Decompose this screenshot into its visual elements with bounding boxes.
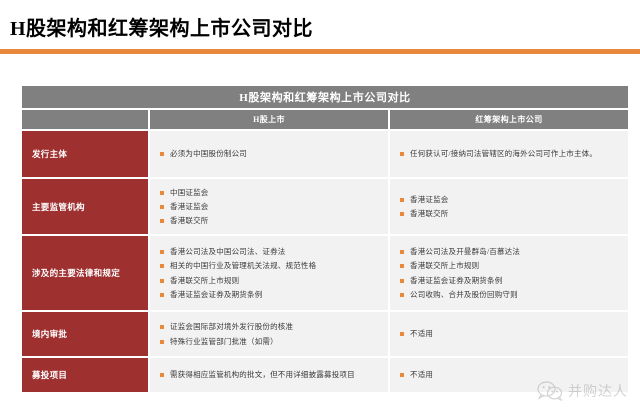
cell-redchip: 任何获认可/接纳司法管辖区的海外公司可作上市主体。 xyxy=(390,131,628,177)
bullet-icon xyxy=(400,264,404,268)
row-label: 募投项目 xyxy=(22,358,150,392)
bullet-label: 香港证监会 xyxy=(410,194,622,205)
table-row: 募投项目 需获得相应监管机构的批文，但不用详细披露募投项目 不适用 xyxy=(22,356,628,392)
bullet-label: 不适用 xyxy=(410,369,622,380)
bullet-label: 香港联交所 xyxy=(410,208,622,219)
bullet-label: 必须为中国股份制公司 xyxy=(170,148,382,159)
bullet-icon xyxy=(160,325,164,329)
bullet-icon xyxy=(400,373,404,377)
bullet-item: 香港公司法及中国公司法、证券法 xyxy=(160,245,382,259)
bullet-item: 任何获认可/接纳司法管辖区的海外公司可作上市主体。 xyxy=(400,147,622,161)
cell-redchip: 香港公司法及开曼群岛/百慕达法 香港联交所上市规则 香港证监会证券及期货条例 公… xyxy=(390,236,628,310)
bullet-label: 香港证监会 xyxy=(170,201,382,212)
bullet-item: 香港公司法及开曼群岛/百慕达法 xyxy=(400,245,622,259)
cell-redchip: 香港证监会 香港联交所 xyxy=(390,179,628,234)
slide-title-area: H股架构和红筹架构上市公司对比 xyxy=(0,0,640,52)
cell-hshare: 证监会国际部对境外发行股份的核准 特殊行业监管部门批准（如需） xyxy=(150,312,390,356)
bullet-icon xyxy=(400,279,404,283)
bullet-icon xyxy=(160,191,164,195)
row-label: 发行主体 xyxy=(22,131,150,177)
bullet-label: 香港联交所上市规则 xyxy=(410,260,622,271)
bullet-item: 必须为中国股份制公司 xyxy=(160,147,382,161)
row-label: 主要监管机构 xyxy=(22,179,150,234)
bullet-label: 不适用 xyxy=(410,328,622,339)
cell-hshare: 香港公司法及中国公司法、证券法 相关的中国行业及管理机关法规、规范性格 香港联交… xyxy=(150,236,390,310)
bullet-label: 公司收购、合并及股份回购守则 xyxy=(410,289,622,300)
cell-hshare: 需获得相应监管机构的批文，但不用详细披露募投项目 xyxy=(150,358,390,392)
row-label: 涉及的主要法律和规定 xyxy=(22,236,150,310)
bullet-icon xyxy=(160,205,164,209)
table-row: 涉及的主要法律和规定 香港公司法及中国公司法、证券法 相关的中国行业及管理机关法… xyxy=(22,234,628,310)
bullet-icon xyxy=(400,152,404,156)
page-title: H股架构和红筹架构上市公司对比 xyxy=(10,12,313,41)
column-header-redchip: 红筹架构上市公司 xyxy=(390,110,628,129)
bullet-icon xyxy=(160,264,164,268)
bullet-icon xyxy=(160,219,164,223)
bullet-icon xyxy=(160,293,164,297)
cell-redchip: 不适用 xyxy=(390,358,628,392)
comparison-table: H股架构和红筹架构上市公司对比 H股上市 红筹架构上市公司 发行主体 必须为中国… xyxy=(22,86,628,392)
bullet-label: 香港联交所 xyxy=(170,215,382,226)
title-divider xyxy=(0,49,640,54)
bullet-icon xyxy=(400,250,404,254)
bullet-item: 香港联交所 xyxy=(400,207,622,221)
bullet-item: 香港联交所上市规则 xyxy=(400,259,622,273)
bullet-item: 特殊行业监管部门批准（如需） xyxy=(160,334,382,348)
bullet-item: 不适用 xyxy=(400,368,622,382)
bullet-label: 香港联交所上市规则 xyxy=(170,275,382,286)
bullet-item: 香港证监会证券及期货条例 xyxy=(160,287,382,301)
bullet-label: 中国证监会 xyxy=(170,187,382,198)
column-header-label-spacer xyxy=(22,110,150,129)
bullet-item: 香港证监会 xyxy=(160,199,382,213)
table-caption: H股架构和红筹架构上市公司对比 xyxy=(22,86,628,110)
bullet-item: 香港联交所上市规则 xyxy=(160,273,382,287)
bullet-icon xyxy=(160,373,164,377)
bullet-label: 相关的中国行业及管理机关法规、规范性格 xyxy=(170,260,382,271)
bullet-label: 香港公司法及中国公司法、证券法 xyxy=(170,246,382,257)
bullet-item: 香港联交所 xyxy=(160,214,382,228)
bullet-item: 相关的中国行业及管理机关法规、规范性格 xyxy=(160,259,382,273)
bullet-item: 香港证监会 xyxy=(400,192,622,206)
bullet-item: 不适用 xyxy=(400,327,622,341)
bullet-label: 任何获认可/接纳司法管辖区的海外公司可作上市主体。 xyxy=(410,148,622,159)
bullet-label: 证监会国际部对境外发行股份的核准 xyxy=(170,321,382,332)
bullet-label: 香港证监会证券及期货条例 xyxy=(410,275,622,286)
bullet-icon xyxy=(160,340,164,344)
bullet-icon xyxy=(160,152,164,156)
bullet-icon xyxy=(400,198,404,202)
table-row: 主要监管机构 中国证监会 香港证监会 香港联交所 香港证监会 香港联交所 xyxy=(22,177,628,234)
bullet-item: 香港证监会证券及期货条例 xyxy=(400,273,622,287)
cell-hshare: 必须为中国股份制公司 xyxy=(150,131,390,177)
bullet-label: 特殊行业监管部门批准（如需） xyxy=(170,336,382,347)
bullet-item: 中国证监会 xyxy=(160,185,382,199)
row-label: 境内审批 xyxy=(22,312,150,356)
bullet-icon xyxy=(400,212,404,216)
bullet-icon xyxy=(160,250,164,254)
table-row: 境内审批 证监会国际部对境外发行股份的核准 特殊行业监管部门批准（如需） 不适用 xyxy=(22,310,628,356)
bullet-label: 香港公司法及开曼群岛/百慕达法 xyxy=(410,246,622,257)
table-column-header-row: H股上市 红筹架构上市公司 xyxy=(22,110,628,129)
cell-redchip: 不适用 xyxy=(390,312,628,356)
bullet-item: 需获得相应监管机构的批文，但不用详细披露募投项目 xyxy=(160,368,382,382)
bullet-icon xyxy=(400,293,404,297)
bullet-item: 证监会国际部对境外发行股份的核准 xyxy=(160,320,382,334)
column-header-hshare: H股上市 xyxy=(150,110,390,129)
table-row: 发行主体 必须为中国股份制公司 任何获认可/接纳司法管辖区的海外公司可作上市主体… xyxy=(22,129,628,177)
bullet-icon xyxy=(160,279,164,283)
bullet-label: 需获得相应监管机构的批文，但不用详细披露募投项目 xyxy=(170,369,382,380)
bullet-item: 公司收购、合并及股份回购守则 xyxy=(400,287,622,301)
cell-hshare: 中国证监会 香港证监会 香港联交所 xyxy=(150,179,390,234)
bullet-label: 香港证监会证券及期货条例 xyxy=(170,289,382,300)
bullet-icon xyxy=(400,332,404,336)
